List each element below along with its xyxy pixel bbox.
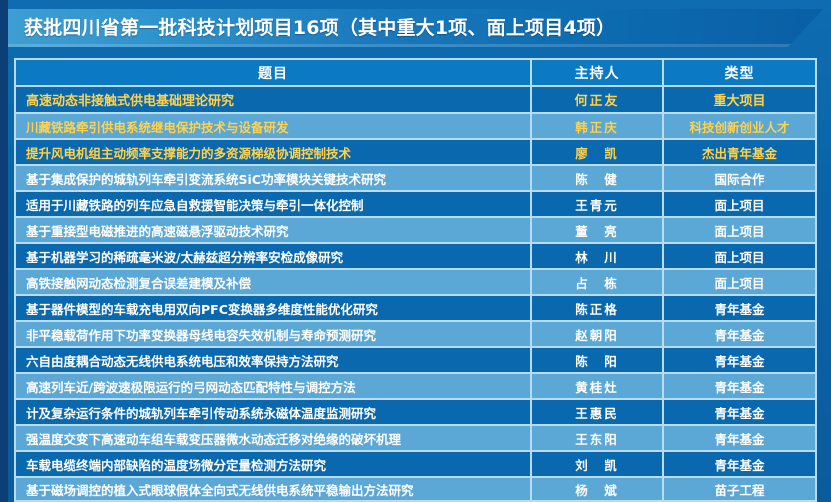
table-row: 六自由度耦合动态无线供电系统电压和效率保持方法研究陈 阳青年基金 bbox=[14, 346, 817, 372]
left-accent-rail bbox=[0, 0, 8, 502]
table-row: 高速列车近/跨波速极限运行的弓网动态匹配特性与调控方法黄桂灶青年基金 bbox=[14, 372, 817, 398]
cell-project-type: 国际合作 bbox=[662, 164, 817, 190]
cell-project-title: 基于磁场调控的植入式眼球假体全向式无线供电系统平稳输出方法研究 bbox=[14, 476, 530, 502]
table-row: 基于重接型电磁推进的高速磁悬浮驱动技术研究董 亮面上项目 bbox=[14, 216, 817, 242]
cell-principal-investigator: 杨 斌 bbox=[530, 476, 662, 502]
cell-project-title: 川藏铁路牵引供电系统继电保护技术与设备研发 bbox=[14, 112, 530, 138]
cell-project-title: 提升风电机组主动频率支撑能力的多资源梯级协调控制技术 bbox=[14, 138, 530, 164]
table-row: 川藏铁路牵引供电系统继电保护技术与设备研发韩正庆科技创新创业人才 bbox=[14, 112, 817, 138]
cell-project-type: 科技创新创业人才 bbox=[662, 112, 817, 138]
table-row: 高速动态非接触式供电基础理论研究何正友重大项目 bbox=[14, 85, 817, 112]
cell-project-type: 面上项目 bbox=[662, 242, 817, 268]
cell-project-title: 高铁接触网动态检测复合误差建模及补偿 bbox=[14, 268, 530, 294]
cell-principal-investigator: 王惠民 bbox=[530, 398, 662, 424]
table-body: 高速动态非接触式供电基础理论研究何正友重大项目川藏铁路牵引供电系统继电保护技术与… bbox=[14, 85, 817, 502]
table-row: 基于器件模型的车载充电用双向PFC变换器多维度性能优化研究陈正格青年基金 bbox=[14, 294, 817, 320]
cell-project-title: 基于器件模型的车载充电用双向PFC变换器多维度性能优化研究 bbox=[14, 294, 530, 320]
cell-project-type: 青年基金 bbox=[662, 424, 817, 450]
cell-principal-investigator: 王东阳 bbox=[530, 424, 662, 450]
cell-project-title: 计及复杂运行条件的城轨列车牵引传动系统永磁体温度监测研究 bbox=[14, 398, 530, 424]
cell-project-type: 面上项目 bbox=[662, 190, 817, 216]
cell-project-type: 青年基金 bbox=[662, 294, 817, 320]
column-header-title: 题目 bbox=[14, 58, 530, 85]
cell-project-title: 基于集成保护的城轨列车牵引变流系统SiC功率模块关键技术研究 bbox=[14, 164, 530, 190]
table-row: 提升风电机组主动频率支撑能力的多资源梯级协调控制技术廖 凯杰出青年基金 bbox=[14, 138, 817, 164]
column-header-type: 类型 bbox=[662, 58, 817, 85]
cell-project-type: 青年基金 bbox=[662, 320, 817, 346]
cell-project-title: 高速动态非接触式供电基础理论研究 bbox=[14, 85, 530, 112]
table-header-row: 题目 主持人 类型 bbox=[14, 58, 817, 85]
cell-principal-investigator: 董 亮 bbox=[530, 216, 662, 242]
cell-principal-investigator: 刘 凯 bbox=[530, 450, 662, 476]
table-row: 基于磁场调控的植入式眼球假体全向式无线供电系统平稳输出方法研究杨 斌苗子工程 bbox=[14, 476, 817, 502]
table-row: 适用于川藏铁路的列车应急自救援智能决策与牵引一体化控制王青元面上项目 bbox=[14, 190, 817, 216]
cell-project-type: 面上项目 bbox=[662, 268, 817, 294]
projects-table: 题目 主持人 类型 高速动态非接触式供电基础理论研究何正友重大项目川藏铁路牵引供… bbox=[14, 58, 817, 502]
cell-project-type: 青年基金 bbox=[662, 398, 817, 424]
table-row: 车载电缆终端内部缺陷的温度场微分定量检测方法研究刘 凯青年基金 bbox=[14, 450, 817, 476]
table-row: 计及复杂运行条件的城轨列车牵引传动系统永磁体温度监测研究王惠民青年基金 bbox=[14, 398, 817, 424]
cell-principal-investigator: 王青元 bbox=[530, 190, 662, 216]
table-row: 基于集成保护的城轨列车牵引变流系统SiC功率模块关键技术研究陈 健国际合作 bbox=[14, 164, 817, 190]
cell-project-type: 杰出青年基金 bbox=[662, 138, 817, 164]
cell-project-type: 面上项目 bbox=[662, 216, 817, 242]
cell-project-type: 重大项目 bbox=[662, 85, 817, 112]
cell-principal-investigator: 林 川 bbox=[530, 242, 662, 268]
table-row: 基于机器学习的稀疏毫米波/太赫兹超分辨率安检成像研究林 川面上项目 bbox=[14, 242, 817, 268]
cell-principal-investigator: 陈正格 bbox=[530, 294, 662, 320]
table-row: 高铁接触网动态检测复合误差建模及补偿占 栋面上项目 bbox=[14, 268, 817, 294]
cell-principal-investigator: 韩正庆 bbox=[530, 112, 662, 138]
cell-project-title: 基于重接型电磁推进的高速磁悬浮驱动技术研究 bbox=[14, 216, 530, 242]
cell-project-title: 强温度交变下高速动车组车载变压器微水动态迁移对绝缘的破坏机理 bbox=[14, 424, 530, 450]
cell-principal-investigator: 何正友 bbox=[530, 85, 662, 112]
projects-table-container: 题目 主持人 类型 高速动态非接触式供电基础理论研究何正友重大项目川藏铁路牵引供… bbox=[14, 58, 817, 490]
cell-project-type: 青年基金 bbox=[662, 372, 817, 398]
cell-project-title: 六自由度耦合动态无线供电系统电压和效率保持方法研究 bbox=[14, 346, 530, 372]
cell-principal-investigator: 黄桂灶 bbox=[530, 372, 662, 398]
table-row: 非平稳载荷作用下功率变换器母线电容失效机制与寿命预测研究赵朝阳青年基金 bbox=[14, 320, 817, 346]
column-header-person: 主持人 bbox=[530, 58, 662, 85]
cell-principal-investigator: 陈 健 bbox=[530, 164, 662, 190]
page-title: 获批四川省第一批科技计划项目16项（其中重大1项、面上项目4项） bbox=[24, 9, 615, 47]
cell-principal-investigator: 占 栋 bbox=[530, 268, 662, 294]
cell-project-title: 高速列车近/跨波速极限运行的弓网动态匹配特性与调控方法 bbox=[14, 372, 530, 398]
cell-principal-investigator: 陈 阳 bbox=[530, 346, 662, 372]
table-row: 强温度交变下高速动车组车载变压器微水动态迁移对绝缘的破坏机理王东阳青年基金 bbox=[14, 424, 817, 450]
cell-project-type: 青年基金 bbox=[662, 346, 817, 372]
cell-principal-investigator: 赵朝阳 bbox=[530, 320, 662, 346]
cell-project-title: 非平稳载荷作用下功率变换器母线电容失效机制与寿命预测研究 bbox=[14, 320, 530, 346]
slide-canvas: 获批四川省第一批科技计划项目16项（其中重大1项、面上项目4项） 题目 主持人 … bbox=[0, 0, 831, 502]
cell-project-type: 苗子工程 bbox=[662, 476, 817, 502]
cell-project-title: 适用于川藏铁路的列车应急自救援智能决策与牵引一体化控制 bbox=[14, 190, 530, 216]
cell-project-title: 基于机器学习的稀疏毫米波/太赫兹超分辨率安检成像研究 bbox=[14, 242, 530, 268]
cell-project-title: 车载电缆终端内部缺陷的温度场微分定量检测方法研究 bbox=[14, 450, 530, 476]
title-banner: 获批四川省第一批科技计划项目16项（其中重大1项、面上项目4项） bbox=[8, 9, 823, 47]
table-header: 题目 主持人 类型 bbox=[14, 58, 817, 85]
cell-project-type: 青年基金 bbox=[662, 450, 817, 476]
cell-principal-investigator: 廖 凯 bbox=[530, 138, 662, 164]
